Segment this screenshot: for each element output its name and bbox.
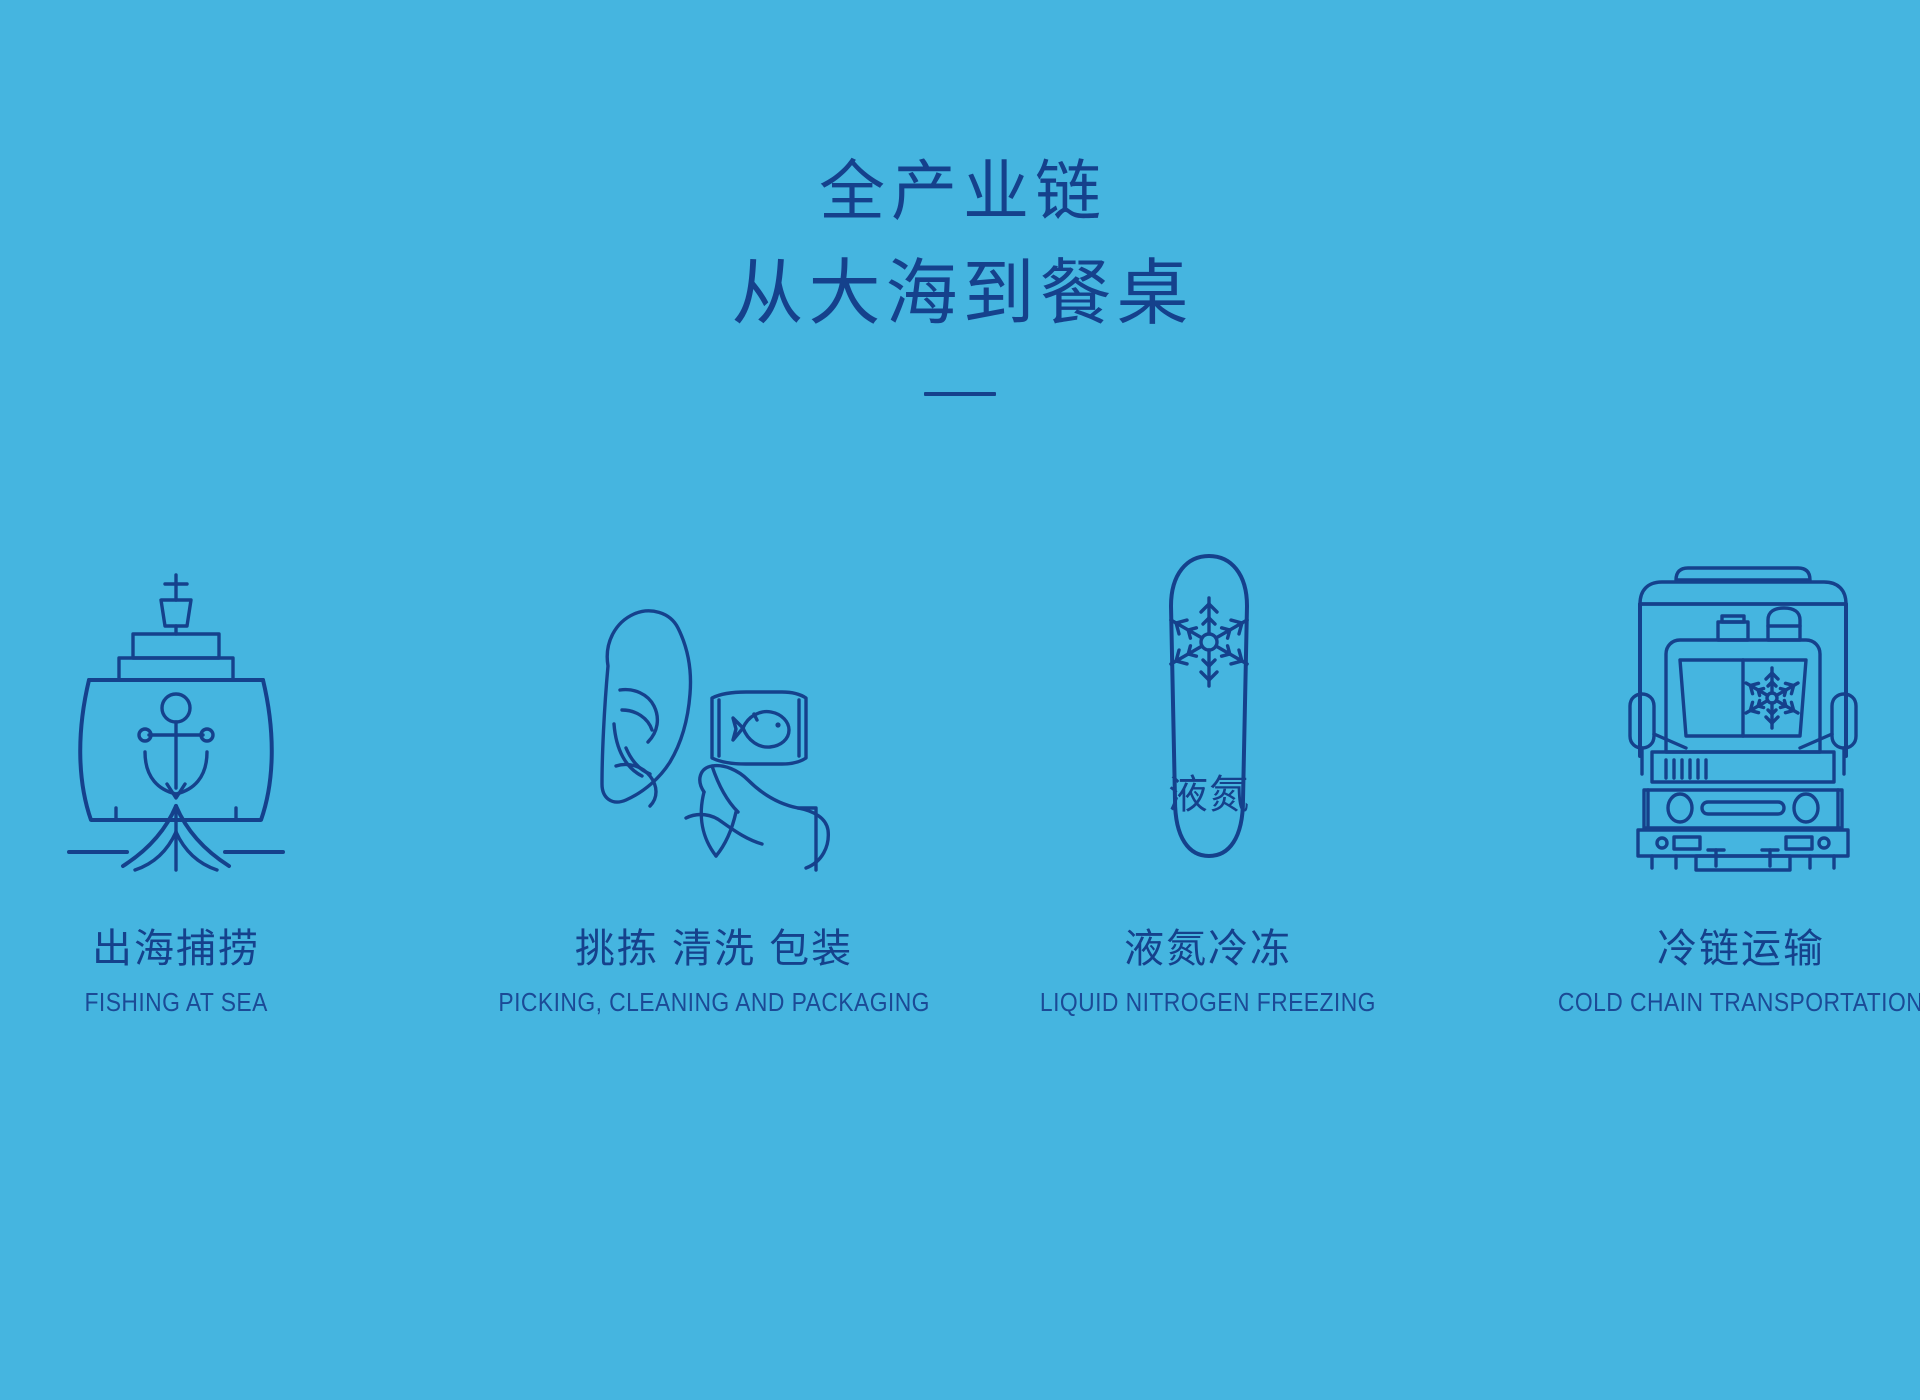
- step-label-cn: 出海捕捞: [72, 928, 280, 970]
- step-picking-cleaning-packaging[interactable]: 挑拣 清洗 包装 PICKING, CLEANING AND PACKAGING: [480, 540, 960, 1017]
- step-label-en: COLD CHAIN TRANSPORTATION: [1558, 988, 1920, 1017]
- fish-package-icon: [712, 692, 806, 764]
- step-label-cn: 挑拣 清洗 包装: [469, 928, 959, 970]
- step-cold-chain-transportation[interactable]: 冷链运输 COLD CHAIN TRANSPORTATION: [1440, 540, 1920, 1017]
- page-title-block: 全产业链 从大海到餐桌: [0, 160, 1920, 396]
- fishing-boat-icon: [61, 570, 291, 870]
- refrigerated-truck-icon: [1618, 560, 1868, 870]
- step-label-en: LIQUID NITROGEN FREEZING: [1040, 988, 1376, 1017]
- page-title-secondary: 从大海到餐桌: [0, 258, 1920, 330]
- step-labels: 挑拣 清洗 包装 PICKING, CLEANING AND PACKAGING: [469, 928, 959, 1017]
- step-fishing-at-sea[interactable]: 出海捕捞 FISHING AT SEA: [0, 540, 480, 1017]
- step-labels: 出海捕捞 FISHING AT SEA: [72, 928, 280, 1017]
- step-label-cn: 冷链运输: [1533, 928, 1920, 970]
- step-label-cn: 液氮冷冻: [1017, 928, 1399, 970]
- step-liquid-nitrogen-freezing[interactable]: 液氮 液氮冷冻 LIQUID NITROGEN FREEZING: [960, 540, 1440, 1017]
- snowflake-icon: [1167, 598, 1251, 686]
- tank-label-text: 液氮: [1168, 773, 1250, 817]
- step-label-en: PICKING, CLEANING AND PACKAGING: [498, 988, 930, 1017]
- fishing-boat-icon-wrap: [61, 540, 291, 870]
- nitrogen-tank-icon: 液氮: [1149, 550, 1269, 870]
- hands-fish-package-icon-wrap: [586, 540, 836, 870]
- page-title-primary: 全产业链: [0, 160, 1920, 226]
- snowflake-icon: [1743, 668, 1801, 728]
- page-root: 全产业链 从大海到餐桌: [0, 0, 1920, 1400]
- nitrogen-tank-icon-wrap: 液氮: [1149, 540, 1269, 870]
- step-labels: 液氮冷冻 LIQUID NITROGEN FREEZING: [1017, 928, 1399, 1017]
- hands-fish-package-icon: [586, 570, 836, 870]
- lower-hand-icon: [686, 766, 828, 870]
- upper-hand-icon: [602, 611, 691, 806]
- title-divider: [924, 392, 996, 396]
- step-labels: 冷链运输 COLD CHAIN TRANSPORTATION: [1533, 928, 1920, 1017]
- refrigerated-truck-icon-wrap: [1618, 540, 1868, 870]
- step-label-en: FISHING AT SEA: [84, 988, 267, 1017]
- process-steps-row: 出海捕捞 FISHING AT SEA: [0, 540, 1920, 1017]
- anchor-icon: [139, 694, 213, 798]
